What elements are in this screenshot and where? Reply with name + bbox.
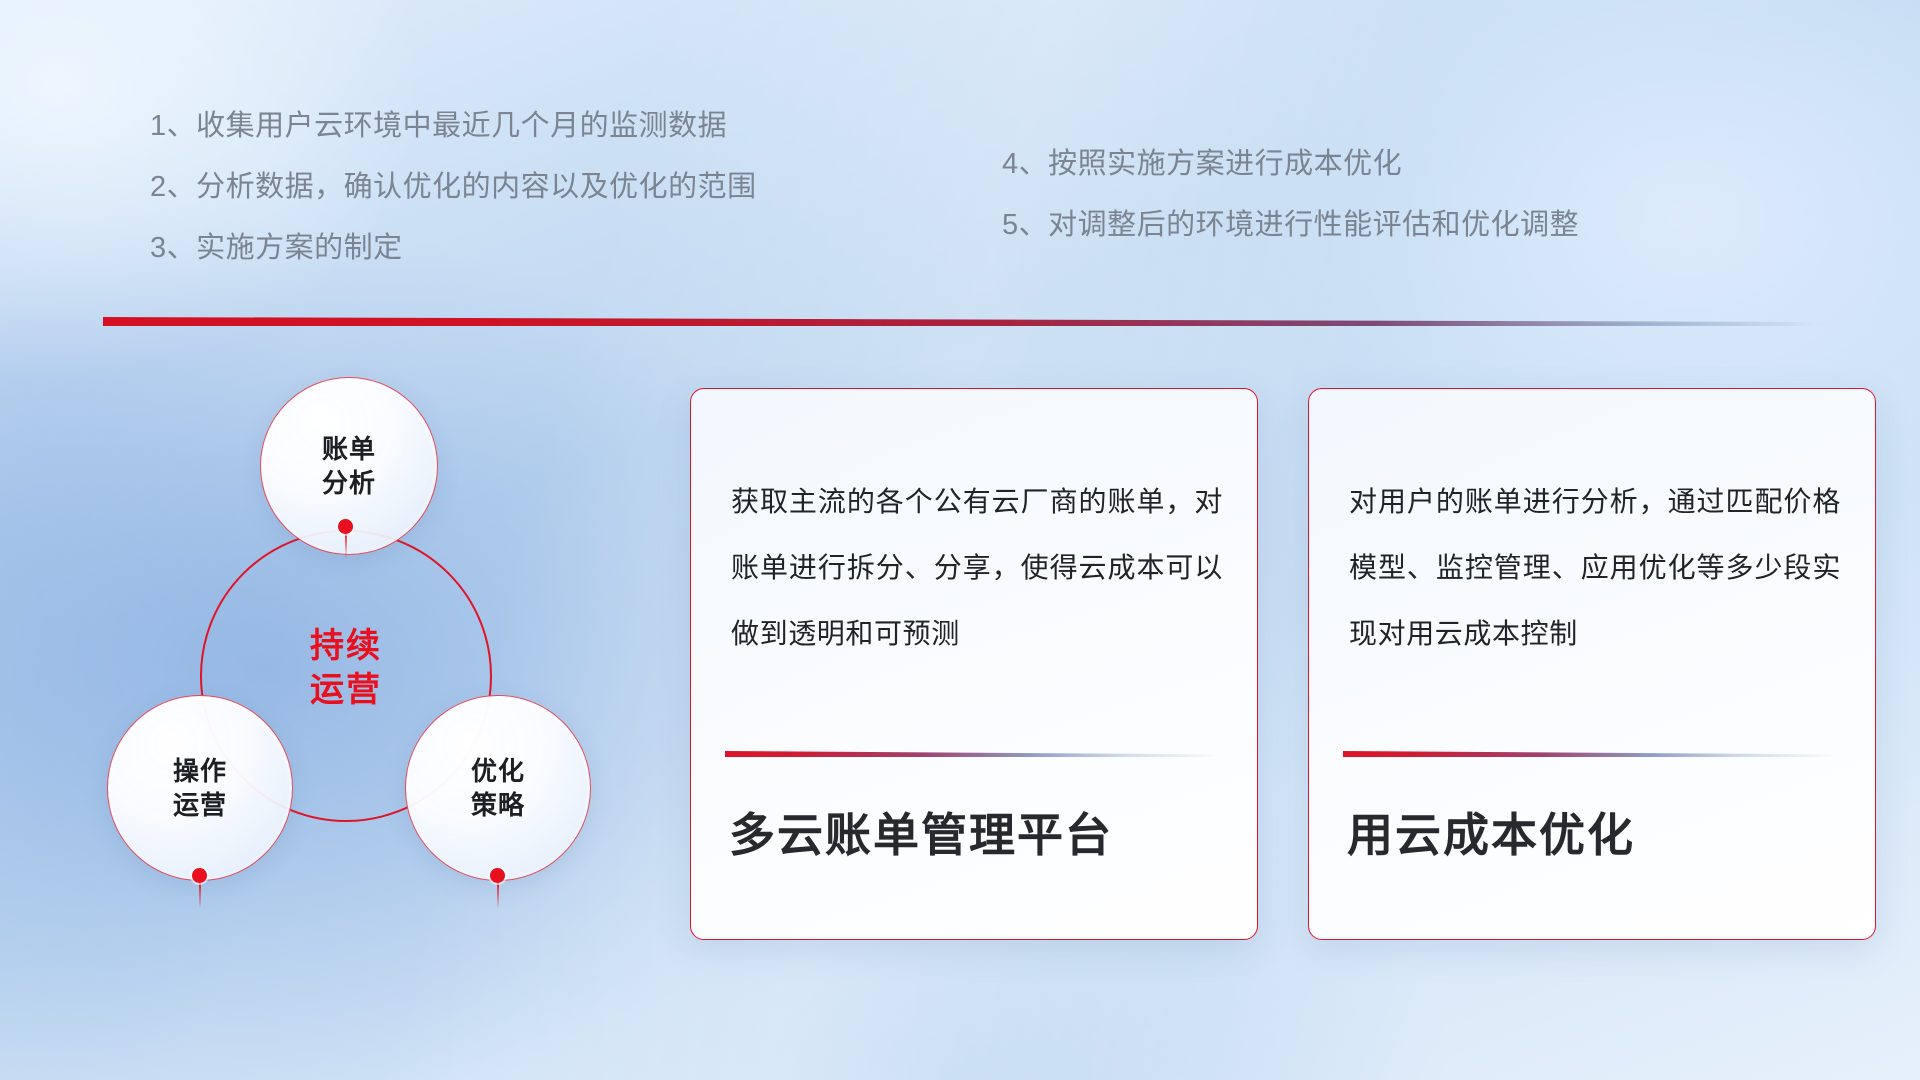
- step-item-1: 1、收集用户云环境中最近几个月的监测数据: [150, 112, 757, 141]
- step-item-5: 5、对调整后的环境进行性能评估和优化调整: [1002, 211, 1579, 240]
- bubble-label-line1: 优化: [471, 754, 525, 788]
- card-title: 多云账单管理平台: [729, 799, 1227, 865]
- venn-diagram: 持续 运营 账单 分析 操作 运营 优化 策略: [95, 355, 655, 955]
- card-title: 用云成本优化: [1347, 799, 1845, 865]
- divider-gradient-bar: [103, 317, 1821, 326]
- steps-left-column: 1、收集用户云环境中最近几个月的监测数据 2、分析数据，确认优化的内容以及优化的…: [150, 112, 757, 295]
- node-dot-top: [338, 519, 353, 534]
- bubble-label-line2: 运营: [173, 788, 227, 822]
- step-item-4: 4、按照实施方案进行成本优化: [1002, 150, 1579, 179]
- bubble-label-line1: 操作: [173, 754, 227, 788]
- center-label: 持续 运营: [200, 625, 492, 712]
- steps-section: 1、收集用户云环境中最近几个月的监测数据 2、分析数据，确认优化的内容以及优化的…: [0, 0, 1920, 300]
- step-item-3: 3、实施方案的制定: [150, 234, 757, 263]
- bubble-label-line1: 账单: [322, 432, 376, 466]
- bubble-operation-ops-label: 操作 运营: [173, 754, 227, 823]
- center-label-line1: 持续: [200, 625, 492, 669]
- card-body-text: 获取主流的各个公有云厂商的账单，对账单进行拆分、分享，使得云成本可以做到透明和可…: [731, 469, 1223, 667]
- connector-stem-right: [497, 881, 499, 909]
- steps-right-column: 4、按照实施方案进行成本优化 5、对调整后的环境进行性能评估和优化调整: [1002, 150, 1579, 272]
- bubble-bill-analysis-label: 账单 分析: [322, 432, 376, 501]
- bubble-label-line2: 分析: [322, 466, 376, 500]
- step-item-2: 2、分析数据，确认优化的内容以及优化的范围: [150, 173, 757, 202]
- section-divider: [103, 317, 1821, 326]
- card-accent-rule: [1343, 751, 1841, 757]
- card-body-text: 对用户的账单进行分析，通过匹配价格模型、监控管理、应用优化等多少段实现对用云成本…: [1349, 469, 1841, 667]
- card-multicloud-billing[interactable]: 获取主流的各个公有云厂商的账单，对账单进行拆分、分享，使得云成本可以做到透明和可…: [690, 388, 1258, 940]
- bubble-operation-ops[interactable]: 操作 运营: [107, 695, 293, 881]
- bubble-optimization-strategy-label: 优化 策略: [471, 754, 525, 823]
- bubble-label-line2: 策略: [471, 788, 525, 822]
- connector-stem-left: [199, 881, 201, 909]
- card-cloud-cost-optimization[interactable]: 对用户的账单进行分析，通过匹配价格模型、监控管理、应用优化等多少段实现对用云成本…: [1308, 388, 1876, 940]
- bubble-optimization-strategy[interactable]: 优化 策略: [405, 695, 591, 881]
- card-accent-rule: [725, 751, 1223, 757]
- connector-stem-top: [345, 531, 347, 559]
- node-dot-right: [490, 868, 505, 883]
- node-dot-left: [192, 868, 207, 883]
